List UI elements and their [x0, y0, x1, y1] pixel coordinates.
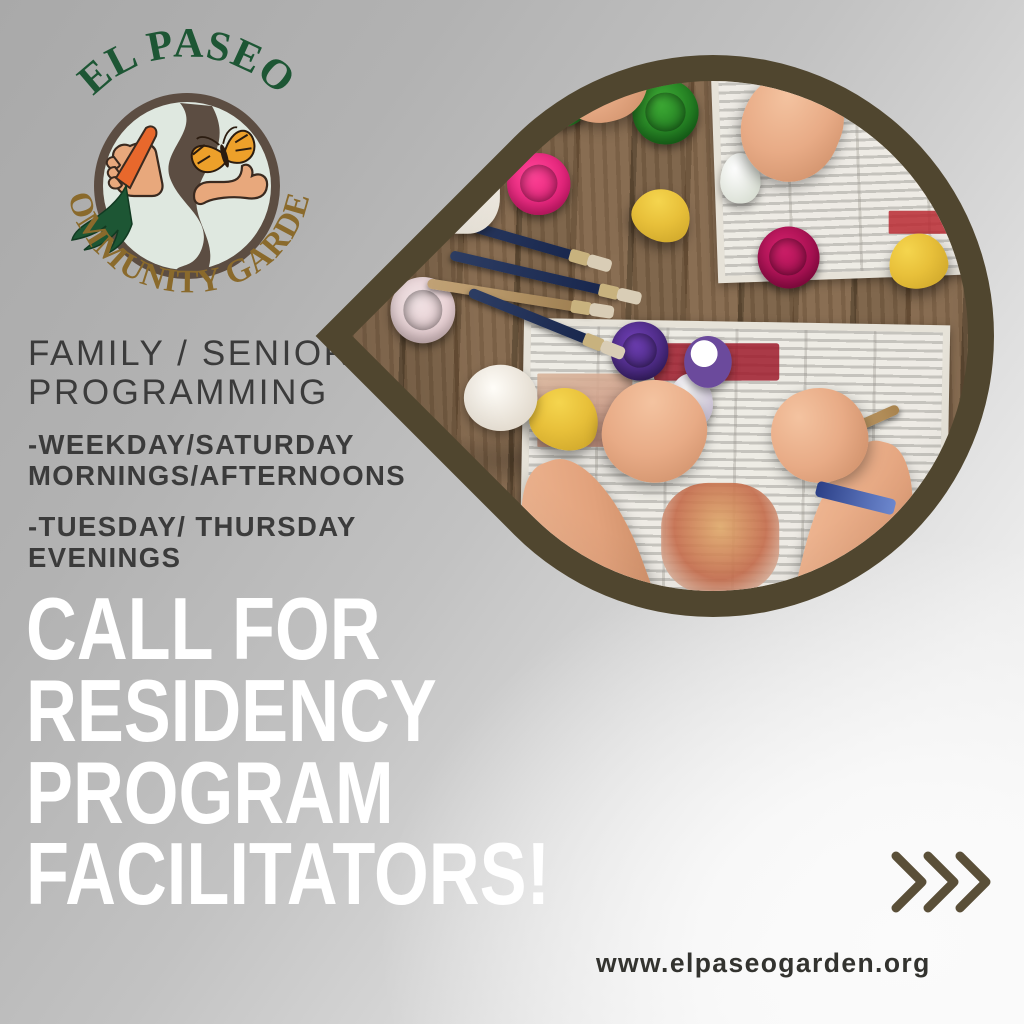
logo-top-arc-text: EL PASEO	[69, 26, 304, 104]
chevron-right-icon-group	[888, 846, 998, 918]
schedule-item-evening: -TUESDAY/ THURSDAY EVENINGS	[28, 512, 458, 574]
schedule-evening-line-2: EVENINGS	[28, 543, 458, 574]
chevron-right-icon-2	[928, 856, 954, 908]
headline-line-1: CALL FOR	[26, 588, 506, 670]
poster-canvas: EL PASEO COMMUNITY GARDEN FAMILY / SENIO…	[0, 0, 1024, 1024]
chevron-right-icon-1	[896, 856, 922, 908]
headline-line-4: FACILITATORS!	[26, 833, 506, 915]
chevron-right-icon-3	[960, 856, 986, 908]
el-paseo-community-garden-logo: EL PASEO COMMUNITY GARDEN	[52, 26, 322, 316]
schedule-item-weekday: -WEEKDAY/SATURDAY MORNINGS/AFTERNOONS	[28, 430, 458, 492]
headline-line-2: RESIDENCY	[26, 670, 506, 752]
newspaper-photo-strip	[750, 6, 1014, 43]
schedule-weekday-line-2: MORNINGS/AFTERNOONS	[28, 461, 458, 492]
website-url[interactable]: www.elpaseogarden.org	[596, 948, 931, 979]
schedule-weekday-line-1: -WEEKDAY/SATURDAY	[28, 430, 458, 461]
schedule-evening-line-1: -TUESDAY/ THURSDAY	[28, 512, 458, 543]
paintbrush-held-top	[604, 0, 638, 50]
page-title: CALL FOR RESIDENCY PROGRAM FACILITATORS!	[26, 588, 626, 915]
headline-line-3: PROGRAM	[26, 752, 506, 834]
